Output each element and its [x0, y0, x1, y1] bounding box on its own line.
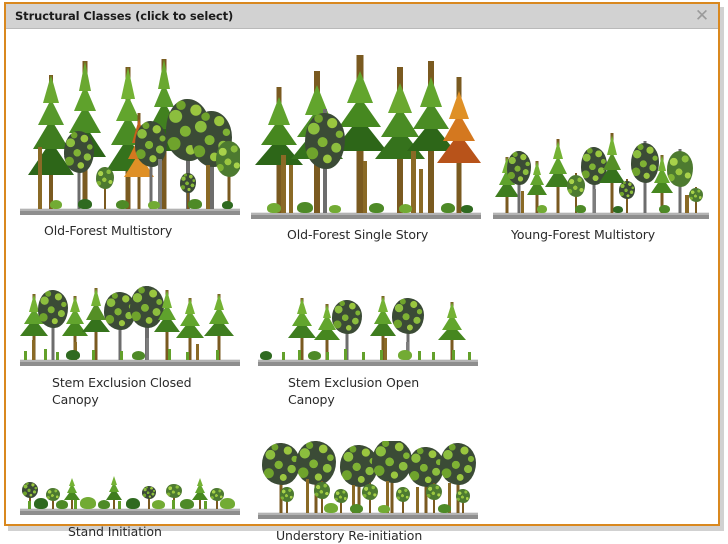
- class-card-understory-re-initiation[interactable]: Understory Re-initiation: [258, 441, 478, 544]
- ground-line: [20, 208, 240, 215]
- shrub: [438, 504, 451, 513]
- structural-classes-dialog: Structural Classes (click to select) ✕: [4, 2, 720, 526]
- class-label-old-forest-single-story: Old-Forest Single Story: [287, 226, 481, 243]
- grass: [24, 351, 27, 360]
- snag: [196, 344, 199, 360]
- shrub: [378, 505, 390, 513]
- dialog-title: Structural Classes (click to select): [15, 9, 233, 23]
- ground-line: [20, 508, 240, 515]
- class-image-young-forest-multistory: [493, 111, 709, 219]
- grass: [362, 352, 365, 360]
- tree-broadleaf: [64, 133, 94, 209]
- shrub: [98, 500, 110, 509]
- class-label-young-forest-multistory: Young-Forest Multistory: [511, 226, 709, 243]
- class-card-old-forest-multistory[interactable]: Old-Forest Multistory: [20, 55, 240, 239]
- snag: [521, 191, 524, 213]
- class-label-stand-initiation: Stand Initiation: [68, 523, 240, 540]
- shrub: [461, 205, 473, 213]
- shrub: [260, 351, 272, 360]
- class-card-young-forest-multistory[interactable]: Young-Forest Multistory: [493, 111, 709, 243]
- snag: [306, 479, 309, 513]
- ground-line: [258, 359, 478, 366]
- tree-conifer: [176, 298, 204, 360]
- shrub: [222, 201, 233, 209]
- shrub: [398, 350, 412, 360]
- shrub: [220, 498, 235, 509]
- shrub: [66, 350, 80, 360]
- shrub: [297, 202, 313, 213]
- tree-sapling: [689, 187, 703, 213]
- snag: [419, 169, 423, 213]
- shrub: [152, 500, 165, 509]
- snag: [411, 151, 416, 213]
- ground-line: [258, 512, 478, 519]
- shrub: [369, 203, 384, 213]
- class-label-stem-exclusion-closed-canopy: Stem Exclusion Closed Canopy: [52, 374, 240, 408]
- grass: [172, 500, 175, 509]
- grass: [44, 349, 47, 360]
- shrub: [308, 351, 321, 360]
- classes-grid: Old-Forest Multistory: [6, 29, 718, 524]
- tree-sapling: [280, 487, 294, 513]
- snag: [146, 338, 149, 360]
- ground-line: [251, 212, 481, 219]
- tree-sapling: [396, 487, 410, 513]
- tree-broadleaf: [216, 141, 240, 209]
- tree-conifer: [204, 294, 234, 360]
- grass: [186, 352, 189, 360]
- class-card-stand-initiation[interactable]: Stand Initiation: [20, 459, 240, 540]
- shrub: [399, 204, 412, 213]
- class-image-understory-re-initiation: [258, 441, 478, 519]
- snag: [38, 147, 42, 209]
- tree-broadleaf: [305, 109, 345, 213]
- snag: [32, 340, 35, 360]
- shrub: [659, 205, 670, 213]
- grass: [282, 352, 285, 360]
- shrub: [188, 199, 202, 209]
- snag: [281, 155, 286, 213]
- close-icon[interactable]: ✕: [692, 6, 712, 26]
- grass: [118, 501, 121, 509]
- shrub: [267, 203, 281, 213]
- shrub: [78, 199, 92, 209]
- shrub: [50, 200, 62, 209]
- class-card-old-forest-single-story[interactable]: Old-Forest Single Story: [251, 51, 481, 243]
- ground-line: [493, 212, 709, 219]
- shrub: [613, 206, 623, 213]
- tree-sapling: [456, 489, 470, 513]
- snag: [416, 487, 419, 513]
- shrub: [34, 498, 48, 509]
- class-card-stem-exclusion-open-canopy[interactable]: Stem Exclusion Open Canopy: [258, 284, 478, 408]
- grass: [344, 349, 347, 360]
- shrub: [80, 497, 96, 509]
- grass: [168, 349, 171, 360]
- class-label-stem-exclusion-open-canopy: Stem Exclusion Open Canopy: [288, 374, 478, 408]
- snag: [289, 165, 293, 213]
- shrub: [350, 504, 363, 513]
- class-image-old-forest-single-story: [251, 51, 481, 219]
- grass: [380, 350, 383, 360]
- shrub: [537, 205, 547, 213]
- grass: [452, 350, 455, 360]
- snag: [206, 165, 210, 209]
- grass: [326, 352, 329, 360]
- class-label-old-forest-multistory: Old-Forest Multistory: [44, 222, 240, 239]
- grass: [120, 351, 123, 360]
- class-image-stem-exclusion-closed-canopy: [20, 276, 240, 366]
- grass: [74, 500, 77, 509]
- snag: [685, 195, 689, 213]
- class-image-stem-exclusion-open-canopy: [258, 284, 478, 366]
- grass: [204, 501, 207, 509]
- shrub: [126, 498, 140, 509]
- tree-broadleaf: [135, 123, 167, 209]
- tree-sapling: [96, 167, 114, 209]
- ground-line: [20, 359, 240, 366]
- grass: [92, 350, 95, 360]
- class-card-stem-exclusion-closed-canopy[interactable]: Stem Exclusion Closed Canopy: [20, 276, 240, 408]
- grass: [216, 350, 219, 360]
- grass: [418, 351, 421, 360]
- tree-sapling: [362, 483, 378, 513]
- class-image-stand-initiation: [20, 459, 240, 515]
- snag: [384, 338, 387, 360]
- shrub: [575, 205, 586, 213]
- shrub: [116, 200, 129, 209]
- shrub: [441, 203, 455, 213]
- grass: [298, 350, 301, 360]
- tree-autumn-conifer: [437, 77, 481, 213]
- class-image-old-forest-multistory: [20, 55, 240, 215]
- shrub: [132, 351, 145, 360]
- snag: [593, 189, 596, 213]
- grass: [28, 501, 31, 509]
- snag: [363, 161, 367, 213]
- shrub: [324, 503, 338, 513]
- grass: [468, 352, 471, 360]
- grass: [56, 352, 59, 360]
- shrub: [56, 500, 68, 509]
- dialog-titlebar: Structural Classes (click to select) ✕: [6, 4, 718, 29]
- class-label-understory-re-initiation: Understory Re-initiation: [276, 527, 478, 544]
- tree-broadleaf: [332, 300, 362, 360]
- shrub: [329, 205, 341, 213]
- shrub: [148, 201, 160, 209]
- grass: [432, 352, 435, 360]
- shrub: [180, 499, 194, 509]
